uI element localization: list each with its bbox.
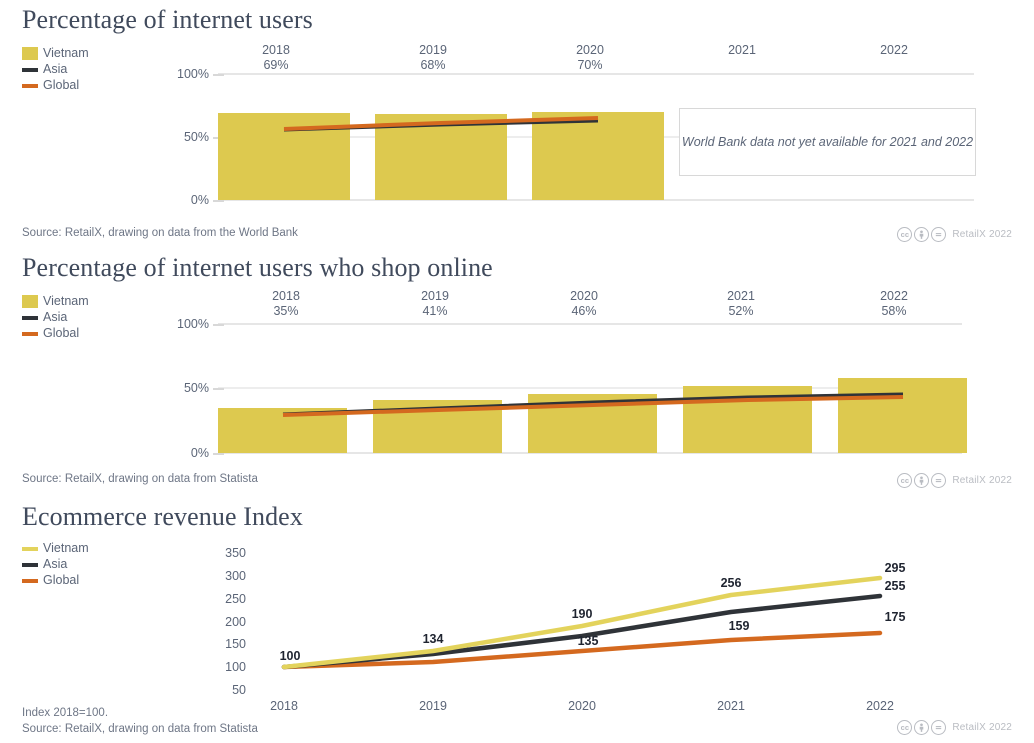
overlay-lines-chart1: [218, 74, 974, 200]
column-header-2019: 2019 68%: [353, 43, 513, 73]
plot-area-chart1: 100% 50% 0% World Bank data not yet avai…: [218, 74, 974, 200]
page-title-chart2: Percentage of internet users who shop on…: [22, 253, 493, 283]
column-header-year: 2020: [510, 43, 670, 58]
ytick-350: 350: [212, 546, 246, 560]
column-header-2018: 2018 35%: [206, 289, 366, 319]
license-badge-chart2: cc RetailX 2022: [897, 473, 1012, 488]
column-header-year: 2018: [196, 43, 356, 58]
line-series-chart3: [268, 553, 910, 690]
license-badge-chart1: cc RetailX 2022: [897, 227, 1012, 242]
ytick-100: 100: [212, 660, 246, 674]
cc-icon: cc: [897, 473, 912, 488]
chart-panel-internet-users: Percentage of internet users Vietnam Asi…: [0, 0, 1034, 248]
ytick-150: 150: [212, 637, 246, 651]
legend-swatch-global-icon: [22, 84, 38, 88]
ytick-0: 0%: [191, 193, 209, 207]
data-label-vietnam-2021: 256: [721, 576, 742, 590]
column-header-value: 41%: [355, 304, 515, 319]
source-note-chart3: Source: RetailX, drawing on data from St…: [22, 722, 258, 737]
column-header-2021: 2021 52%: [661, 289, 821, 319]
cc-by-icon: [914, 473, 929, 488]
column-header-value: 58%: [814, 304, 974, 319]
legend-label-asia: Asia: [43, 557, 67, 572]
xtick-2022: 2022: [866, 699, 894, 713]
legend-chart3: Vietnam Asia Global: [22, 541, 89, 589]
person-glyph-icon: [917, 723, 926, 732]
column-header-year: 2021: [662, 43, 822, 58]
person-glyph-icon: [917, 230, 926, 239]
legend-label-vietnam: Vietnam: [43, 541, 89, 556]
equals-glyph-icon: [934, 723, 943, 732]
legend-swatch-global-icon: [22, 332, 38, 336]
cc-by-icon: [914, 720, 929, 735]
data-label-vietnam-2022: 295: [885, 561, 906, 575]
legend-swatch-global-icon: [22, 579, 38, 583]
legend-chart1: Vietnam Asia Global: [22, 46, 89, 94]
cc-nd-icon: [931, 473, 946, 488]
column-header-2020: 2020 46%: [504, 289, 664, 319]
chart-panel-revenue-index: Ecommerce revenue Index Vietnam Asia Glo…: [0, 496, 1034, 743]
column-header-year: 2019: [355, 289, 515, 304]
legend-item-vietnam: Vietnam: [22, 294, 89, 309]
cc-nd-icon: [931, 227, 946, 242]
legend-swatch-asia-icon: [22, 316, 38, 320]
legend-swatch-vietnam-icon: [22, 547, 38, 551]
legend-swatch-asia-icon: [22, 68, 38, 72]
data-label-asia-2022: 255: [885, 579, 906, 593]
legend-swatch-asia-icon: [22, 563, 38, 567]
column-header-value: 68%: [353, 58, 513, 73]
column-header-2021: 2021: [662, 43, 822, 58]
legend-label-vietnam: Vietnam: [43, 294, 89, 309]
ytick-200: 200: [212, 615, 246, 629]
column-header-value: 46%: [504, 304, 664, 319]
xtick-2018: 2018: [270, 699, 298, 713]
column-header-year: 2022: [814, 289, 974, 304]
xtick-2019: 2019: [419, 699, 447, 713]
column-header-value: 52%: [661, 304, 821, 319]
legend-item-vietnam: Vietnam: [22, 46, 89, 61]
data-label-global-2021: 159: [729, 619, 750, 633]
legend-swatch-vietnam-icon: [22, 295, 38, 308]
xtick-2021: 2021: [717, 699, 745, 713]
legend-item-vietnam: Vietnam: [22, 541, 89, 556]
cc-by-icon: [914, 227, 929, 242]
legend-label-global: Global: [43, 573, 79, 588]
legend-item-asia: Asia: [22, 62, 89, 77]
legend-label-asia: Asia: [43, 62, 67, 77]
data-label-vietnam-2019: 134: [423, 632, 444, 646]
column-header-2019: 2019 41%: [355, 289, 515, 319]
ytick-100: 100%: [177, 317, 209, 331]
column-header-2018: 2018 69%: [196, 43, 356, 73]
license-badge-chart3: cc RetailX 2022: [897, 720, 1012, 735]
legend-swatch-vietnam-icon: [22, 47, 38, 60]
cc-icon: cc: [897, 720, 912, 735]
ytick-50: 50%: [184, 381, 209, 395]
equals-glyph-icon: [934, 476, 943, 485]
legend-label-asia: Asia: [43, 310, 67, 325]
column-header-2022: 2022: [814, 43, 974, 58]
license-credit-text: RetailX 2022: [952, 229, 1012, 240]
column-header-year: 2021: [661, 289, 821, 304]
legend-label-vietnam: Vietnam: [43, 46, 89, 61]
line-vietnam: [284, 578, 880, 667]
ytick-100: 100%: [177, 67, 209, 81]
person-glyph-icon: [917, 476, 926, 485]
column-header-value: 35%: [206, 304, 366, 319]
plot-area-chart2: 100% 50% 0%: [218, 324, 962, 453]
legend-item-global: Global: [22, 326, 89, 341]
data-label-vietnam-2020: 190: [572, 607, 593, 621]
legend-item-global: Global: [22, 78, 89, 93]
plot-area-chart3: 350 300 250 200 150 100 50 100 134 190 2…: [268, 553, 910, 690]
source-note-chart2: Source: RetailX, drawing on data from St…: [22, 472, 258, 487]
legend-item-asia: Asia: [22, 310, 89, 325]
chart-panel-shop-online: Percentage of internet users who shop on…: [0, 248, 1034, 496]
column-header-value: 70%: [510, 58, 670, 73]
column-header-year: 2020: [504, 289, 664, 304]
legend-item-asia: Asia: [22, 557, 89, 572]
ytick-300: 300: [212, 569, 246, 583]
column-header-2022: 2022 58%: [814, 289, 974, 319]
data-label-global-2022: 175: [885, 610, 906, 624]
page-title-chart3: Ecommerce revenue Index: [22, 502, 303, 532]
overlay-lines-chart2: [218, 324, 962, 453]
equals-glyph-icon: [934, 230, 943, 239]
ytick-0: 0%: [191, 446, 209, 460]
ytick-250: 250: [212, 592, 246, 606]
license-credit-text: RetailX 2022: [952, 475, 1012, 486]
ytick-50: 50: [212, 683, 246, 697]
cc-nd-icon: [931, 720, 946, 735]
cc-icon: cc: [897, 227, 912, 242]
license-credit-text: RetailX 2022: [952, 722, 1012, 733]
column-header-value: 69%: [196, 58, 356, 73]
legend-chart2: Vietnam Asia Global: [22, 294, 89, 342]
xtick-2020: 2020: [568, 699, 596, 713]
line-global: [283, 397, 903, 415]
ytick-50: 50%: [184, 130, 209, 144]
legend-label-global: Global: [43, 78, 79, 93]
page-title-chart1: Percentage of internet users: [22, 5, 313, 35]
data-label-asia-2020: 135: [578, 634, 599, 648]
column-header-year: 2022: [814, 43, 974, 58]
column-header-year: 2019: [353, 43, 513, 58]
legend-label-global: Global: [43, 326, 79, 341]
legend-item-global: Global: [22, 573, 89, 588]
data-label-2018-100: 100: [280, 649, 301, 663]
index-note-chart3: Index 2018=100.: [22, 706, 108, 721]
source-note-chart1: Source: RetailX, drawing on data from th…: [22, 226, 298, 241]
column-header-year: 2018: [206, 289, 366, 304]
column-header-2020: 2020 70%: [510, 43, 670, 73]
